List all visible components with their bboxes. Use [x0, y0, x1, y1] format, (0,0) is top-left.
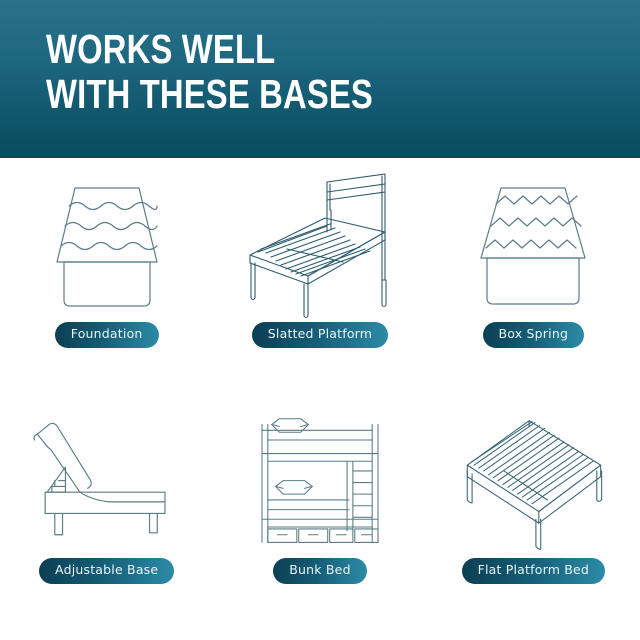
base-card-adjustable-base[interactable]: Adjustable Base [0, 399, 213, 640]
base-label-foundation: Foundation [55, 322, 159, 348]
base-card-bunk-bed[interactable]: Bunk Bed [213, 399, 426, 640]
base-card-flat-platform-bed[interactable]: Flat Platform Bed [427, 399, 640, 640]
box-spring-icon [443, 170, 623, 320]
infographic-page: WORKS WELL WITH THESE BASES Foundation [0, 0, 640, 640]
flat-platform-bed-icon [443, 411, 623, 556]
bunk-bed-icon [230, 411, 410, 556]
base-card-foundation[interactable]: Foundation [0, 158, 213, 399]
base-card-box-spring[interactable]: Box Spring [427, 158, 640, 399]
adjustable-base-icon [17, 411, 197, 556]
header-banner: WORKS WELL WITH THESE BASES [0, 0, 640, 158]
bases-grid: Foundation [0, 158, 640, 640]
base-label-box-spring: Box Spring [483, 322, 585, 348]
base-label-flat-platform-bed: Flat Platform Bed [462, 558, 606, 584]
base-label-slatted-platform: Slatted Platform [252, 322, 388, 348]
base-card-slatted-platform[interactable]: Slatted Platform [213, 158, 426, 399]
slatted-platform-bed-icon [230, 170, 410, 320]
foundation-mattress-icon [17, 170, 197, 320]
page-title: WORKS WELL WITH THESE BASES [46, 27, 478, 117]
base-label-adjustable-base: Adjustable Base [39, 558, 174, 584]
base-label-bunk-bed: Bunk Bed [273, 558, 366, 584]
